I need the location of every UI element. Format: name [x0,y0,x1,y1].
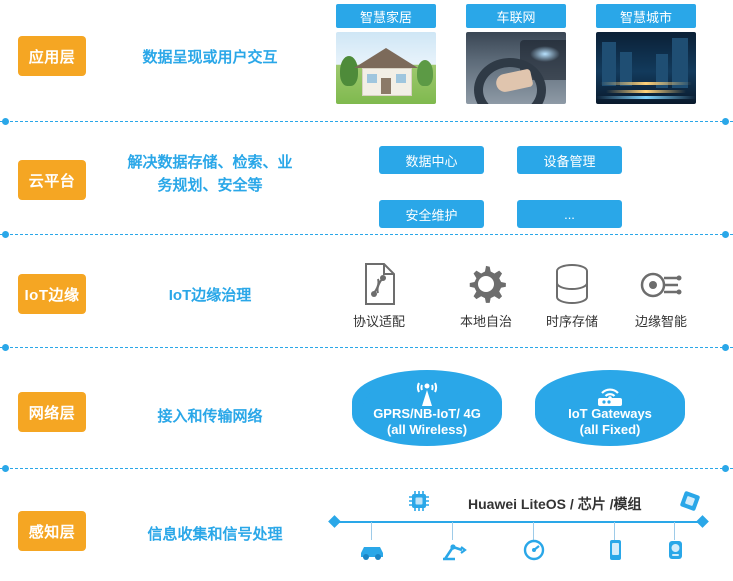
edge-item-timeseries-storage[interactable]: 时序存储 [529,259,615,330]
sensor-stem [452,522,453,540]
edge-item-label: 本地自治 [443,311,529,330]
door-shape [381,78,391,94]
meter-sensor-icon [520,539,546,566]
tree-shape [417,60,433,86]
window-shape [367,74,377,83]
sensor-stem [614,522,615,540]
network-cloud-gateways[interactable]: IoT Gateways (all Fixed) [535,370,685,446]
light-trail-shape [596,96,696,99]
layer-tag-application: 应用层 [18,36,86,76]
tablet-sensor-icon [601,539,627,566]
layer-desc-cloud-platform: 解决数据存储、检索、业 务规划、安全等 [105,152,315,197]
bus-node-left [328,515,341,528]
layer-network: 网络层 接入和传输网络 GPRS/NB-IoT/ 4G (all Wireles… [0,348,733,467]
sensor-stem [533,522,534,540]
layer-desc-network: 接入和传输网络 [130,406,290,429]
sensor-stem [674,522,675,540]
app-card-title: 智慧城市 [596,4,696,28]
database-icon [529,259,615,305]
network-cloud-label-line2: (all Fixed) [535,422,685,438]
wifi-router-icon [535,382,685,406]
gauge-sensor-icon [661,539,687,566]
connected-car-photo [466,32,566,104]
car-sensor-icon [358,539,384,566]
edge-item-label: 边缘智能 [618,311,704,330]
layer-desc-line2: 务规划、安全等 [105,175,315,198]
cloud-box-device-management[interactable]: 设备管理 [517,146,622,174]
building-shape [672,38,688,88]
layer-sensing: 感知层 信息收集和信号处理 Huawei LiteOS / 芯片 /模组 [0,469,733,581]
cloud-box-data-center[interactable]: 数据中心 [379,146,484,174]
window-shape [396,74,406,83]
light-trail-shape [600,82,692,85]
app-card-connected-car[interactable]: 车联网 [466,4,566,104]
edge-ai-chip-icon [618,259,704,305]
network-cloud-label-line2: (all Wireless) [352,422,502,438]
layer-desc-iot-edge: IoT边缘治理 [130,285,290,308]
sensing-bus-line [332,521,704,523]
layer-desc-application: 数据呈现或用户交互 [110,47,310,70]
app-card-smart-home[interactable]: 智慧家居 [336,4,436,104]
building-shape [602,42,616,86]
app-card-smart-city[interactable]: 智慧城市 [596,4,696,104]
network-cloud-wireless[interactable]: GPRS/NB-IoT/ 4G (all Wireless) [352,370,502,446]
network-cloud-label-line1: GPRS/NB-IoT/ 4G [352,406,502,422]
building-shape [620,52,632,86]
layer-iot-edge: IoT边缘 IoT边缘治理 协议适配 本地自治 [0,235,733,346]
layer-tag-cloud-platform: 云平台 [18,160,86,200]
app-card-title: 车联网 [466,4,566,28]
layer-tag-network: 网络层 [18,392,86,432]
sensor-stem [371,522,372,540]
liteos-module-icon [678,489,702,518]
light-trail-shape [606,90,686,93]
layer-tag-iot-edge: IoT边缘 [18,274,86,314]
layer-desc-sensing: 信息收集和信号处理 [125,524,305,547]
roof-shape [354,48,418,68]
liteos-bus-title: Huawei LiteOS / 芯片 /模组 [468,494,641,514]
edge-item-local-autonomy[interactable]: 本地自治 [443,259,529,330]
gear-icon [443,259,529,305]
edge-item-edge-intelligence[interactable]: 边缘智能 [618,259,704,330]
smart-city-photo [596,32,696,104]
robot-arm-sensor-icon [439,539,465,566]
network-cloud-label-line1: IoT Gateways [535,406,685,422]
cloud-box-security-maintenance[interactable]: 安全维护 [379,200,484,228]
cell-tower-icon [352,382,502,406]
layer-application: 应用层 数据呈现或用户交互 智慧家居 车联网 智慧城市 [0,0,733,116]
screen-glow-shape [530,46,560,62]
edge-item-label: 协议适配 [336,311,422,330]
layer-cloud-platform: 云平台 解决数据存储、检索、业 务规划、安全等 数据中心 设备管理 安全维护 .… [0,122,733,234]
cloud-box-more[interactable]: ... [517,200,622,228]
layer-tag-sensing: 感知层 [18,511,86,551]
layer-desc-line1: 解决数据存储、检索、业 [105,152,315,175]
liteos-chip-icon [408,490,430,517]
edge-item-label: 时序存储 [529,311,615,330]
app-card-title: 智慧家居 [336,4,436,28]
edge-item-protocol-adaptation[interactable]: 协议适配 [336,259,422,330]
document-protocol-icon [336,259,422,305]
smart-home-photo [336,32,436,104]
